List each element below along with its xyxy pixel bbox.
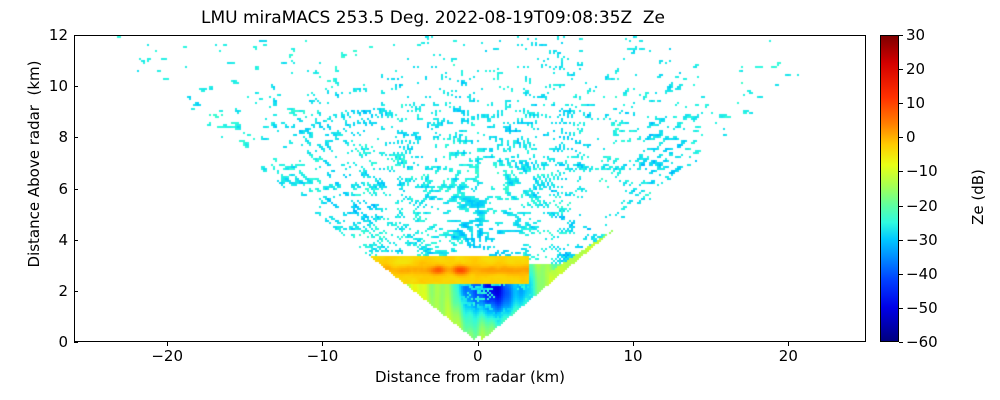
- colorbar-tick-label: −30: [906, 231, 938, 249]
- x-tick: [478, 342, 479, 346]
- x-tick: [167, 342, 168, 346]
- y-tick: [74, 137, 78, 138]
- x-tick-label: 20: [779, 347, 798, 365]
- y-tick: [74, 189, 78, 190]
- colorbar-tick: [899, 137, 903, 138]
- x-axis-label: Distance from radar (km): [74, 368, 866, 386]
- x-tick-label: −10: [307, 347, 339, 365]
- colorbar-tick-label: −40: [906, 265, 938, 283]
- y-tick-label: 4: [58, 231, 68, 249]
- x-tick: [633, 342, 634, 346]
- x-tick: [322, 342, 323, 346]
- y-tick-label: 8: [58, 128, 68, 146]
- colorbar-tick: [899, 274, 903, 275]
- radar-reflectivity-heatmap: [75, 36, 866, 342]
- colorbar-tick-label: 10: [906, 94, 925, 112]
- colorbar-tick-label: −50: [906, 299, 938, 317]
- colorbar-tick-label: −60: [906, 333, 938, 351]
- x-tick-label: 0: [473, 347, 483, 365]
- plot-area: [74, 35, 866, 342]
- colorbar-tick-label: 0: [906, 128, 916, 146]
- colorbar-tick: [899, 171, 903, 172]
- y-tick: [74, 291, 78, 292]
- y-tick: [74, 342, 78, 343]
- colorbar-tick: [899, 308, 903, 309]
- colorbar-tick: [899, 240, 903, 241]
- colorbar-tick: [899, 206, 903, 207]
- colorbar-tick-label: 30: [906, 26, 925, 44]
- colorbar-tick: [899, 342, 903, 343]
- page-title: LMU miraMACS 253.5 Deg. 2022-08-19T09:08…: [0, 8, 866, 28]
- colorbar-tick: [899, 35, 903, 36]
- colorbar-tick-label: 20: [906, 60, 925, 78]
- colorbar-tick-label: −10: [906, 162, 938, 180]
- y-tick-label: 6: [58, 180, 68, 198]
- y-axis-label: Distance Above radar (km): [25, 4, 43, 324]
- y-tick: [74, 86, 78, 87]
- colorbar-tick: [899, 69, 903, 70]
- x-tick-label: −20: [151, 347, 183, 365]
- x-tick: [788, 342, 789, 346]
- colorbar-label: Ze (dB): [969, 107, 987, 287]
- colorbar-tick-label: −20: [906, 197, 938, 215]
- y-tick: [74, 35, 78, 36]
- y-tick-label: 2: [58, 282, 68, 300]
- colorbar-gradient: [881, 36, 898, 341]
- colorbar: [880, 35, 899, 342]
- y-tick: [74, 240, 78, 241]
- y-tick-label: 12: [49, 26, 68, 44]
- y-tick-label: 10: [49, 77, 68, 95]
- y-tick-label: 0: [58, 333, 68, 351]
- x-tick-label: 10: [624, 347, 643, 365]
- radar-rhi-figure: LMU miraMACS 253.5 Deg. 2022-08-19T09:08…: [0, 0, 1000, 400]
- colorbar-tick: [899, 103, 903, 104]
